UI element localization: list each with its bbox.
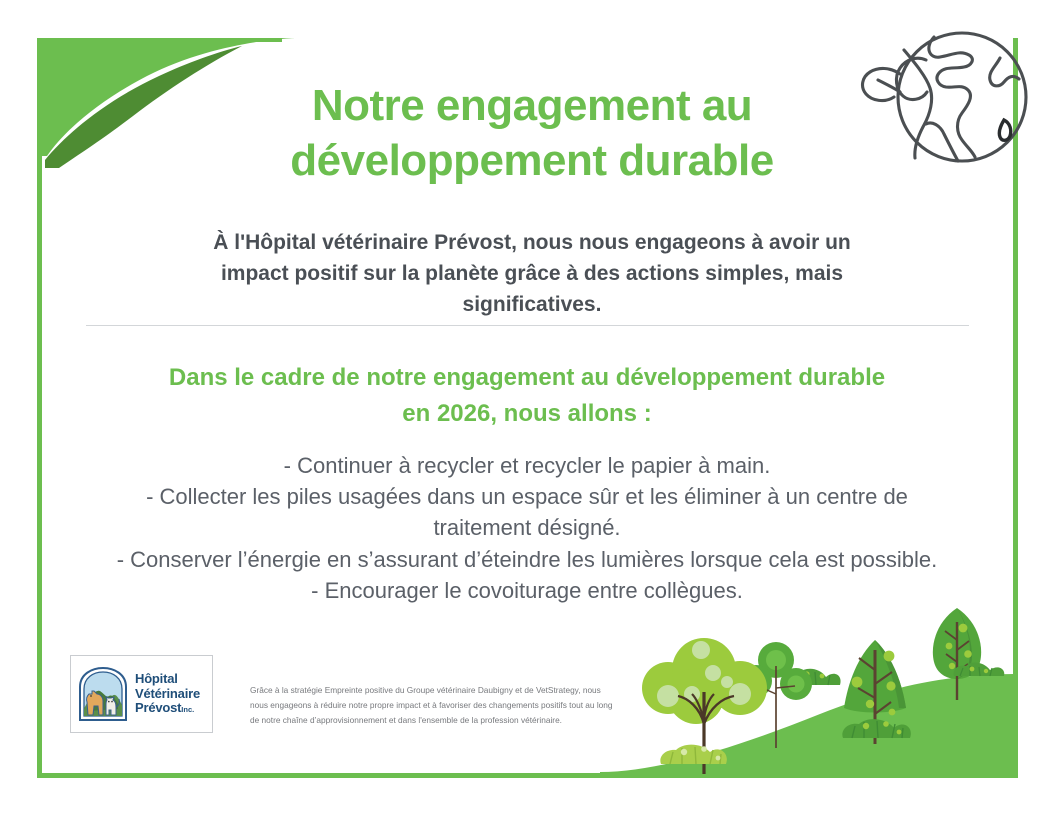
footnote-line-3: de notre chaîne d’approvisionnement et d… [250, 713, 625, 728]
poster-content: Notre engagement au développement durabl… [42, 38, 1013, 773]
frame-bottom-border [37, 773, 1018, 778]
sustainability-poster: Notre engagement au développement durabl… [0, 0, 1056, 816]
subtitle-line-2: impact positif sur la planète grâce à de… [152, 259, 912, 290]
page-title: Notre engagement au développement durabl… [182, 78, 882, 189]
clinic-logo-text: Hôpital Vétérinaire PrévostInc. [135, 672, 200, 716]
horizontal-divider [86, 325, 969, 326]
subtitle-paragraph: À l'Hôpital vétérinaire Prévost, nous no… [152, 228, 912, 321]
title-line-1: Notre engagement au [182, 78, 882, 133]
footnote-line-1: Grâce à la stratégie Empreinte positive … [250, 683, 625, 698]
commitment-list: - Continuer à recycler et recycler le pa… [67, 450, 987, 606]
title-line-2: développement durable [182, 133, 882, 188]
clinic-logo: Hôpital Vétérinaire PrévostInc. [70, 655, 213, 733]
list-item: - Continuer à recycler et recycler le pa… [67, 450, 987, 481]
subtitle-line-1: À l'Hôpital vétérinaire Prévost, nous no… [152, 228, 912, 259]
list-item: - Conserver l’énergie en s’assurant d’ét… [67, 544, 987, 575]
section-heading-line-1: Dans le cadre de notre engagement au dév… [102, 360, 952, 396]
subtitle-line-3: significatives. [152, 290, 912, 321]
list-item: traitement désigné. [67, 512, 987, 543]
logo-line-2: Vétérinaire [135, 687, 200, 702]
logo-name-prevost: Prévost [135, 700, 181, 715]
frame-right-border [1013, 38, 1018, 778]
footnote-line-2: nous engageons à réduire notre propre im… [250, 698, 625, 713]
clinic-logo-illustration [76, 665, 130, 723]
list-item: - Encourager le covoiturage entre collèg… [67, 575, 987, 606]
footnote-text: Grâce à la stratégie Empreinte positive … [250, 683, 625, 728]
list-item: - Collecter les piles usagées dans un es… [67, 481, 987, 512]
logo-line-1: Hôpital [135, 672, 200, 687]
logo-suffix-inc: Inc. [181, 705, 194, 714]
logo-line-3: PrévostInc. [135, 701, 200, 716]
section-heading: Dans le cadre de notre engagement au dév… [102, 360, 952, 431]
section-heading-line-2: en 2026, nous allons : [102, 396, 952, 432]
